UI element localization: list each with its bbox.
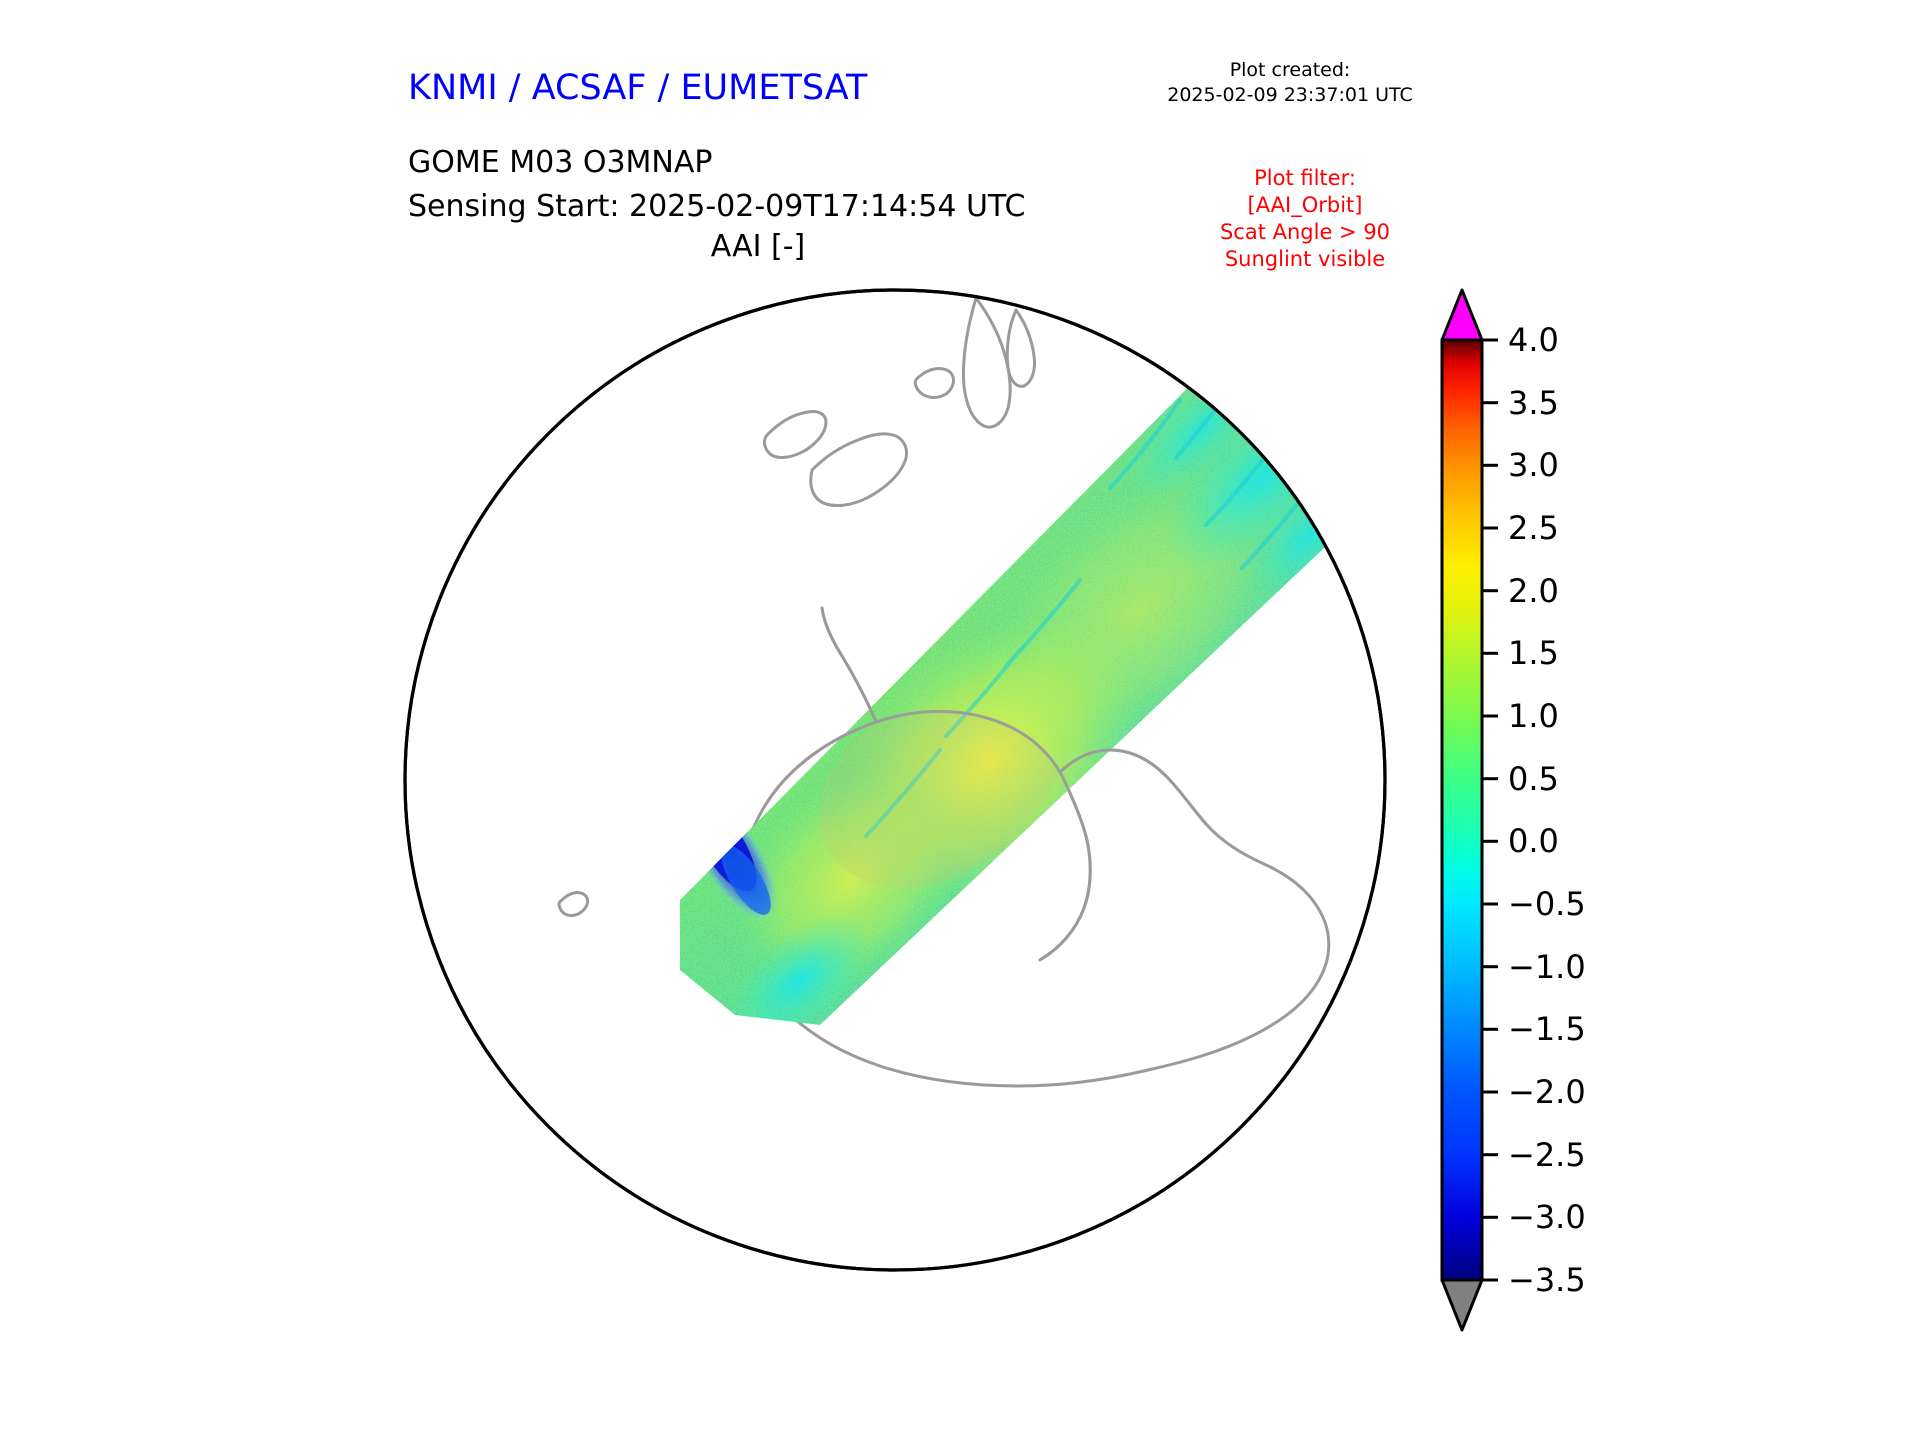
variable-title: AAI [-] [408,229,1108,264]
sensing-start: Sensing Start: 2025-02-09T17:14:54 UTC [408,185,1025,229]
plot-created-block: Plot created: 2025-02-09 23:37:01 UTC [1140,58,1440,108]
colorbar-tick-label-13: −2.5 [1508,1139,1586,1171]
colorbar-tick-label-0: 4.0 [1508,324,1559,356]
agency-title: KNMI / ACSAF / EUMETSAT [408,68,867,108]
colorbar-tick-label-14: −3.0 [1508,1201,1586,1233]
colorbar-gradient [1442,340,1482,1280]
colorbar-tick-label-7: 0.5 [1508,763,1559,795]
map-plot-area [380,280,1410,1340]
colorbar-tick-label-8: 0.0 [1508,825,1559,857]
colorbar-tick-labels: 4.0 3.5 3.0 2.5 2.0 1.5 1.0 0.5 0.0 −0.5… [1508,280,1628,1340]
colorbar-tick-label-1: 3.5 [1508,387,1559,419]
colorbar-under-arrow [1442,1280,1482,1330]
colorbar-tick-label-11: −1.5 [1508,1013,1586,1045]
colorbar-tick-label-15: −3.5 [1508,1264,1586,1296]
product-name: GOME M03 O3MNAP [408,141,1025,185]
colorbar-tick-label-5: 1.5 [1508,637,1559,669]
colorbar-ticks [1482,340,1498,1280]
africa-cape-coastline [1300,1022,1410,1108]
polar-stereographic-map [380,280,1410,1340]
plot-created-label: Plot created: [1140,58,1440,83]
colorbar-tick-label-3: 2.5 [1508,512,1559,544]
plot-filter-line-0: [AAI_Orbit] [1160,192,1450,219]
colorbar [1440,280,1500,1340]
plot-filter-label: Plot filter: [1160,165,1450,192]
plot-filter-block: Plot filter: [AAI_Orbit] Scat Angle > 90… [1160,165,1450,273]
colorbar-svg [1440,280,1500,1340]
plot-filter-line-2: Sunglint visible [1160,246,1450,273]
product-title-block: GOME M03 O3MNAP Sensing Start: 2025-02-0… [408,141,1025,229]
colorbar-tick-label-9: −0.5 [1508,888,1586,920]
plot-filter-line-1: Scat Angle > 90 [1160,219,1450,246]
colorbar-tick-label-12: −2.0 [1508,1076,1586,1108]
colorbar-tick-label-6: 1.0 [1508,700,1559,732]
colorbar-tick-label-10: −1.0 [1508,951,1586,983]
colorbar-over-arrow [1442,290,1482,340]
plot-created-value: 2025-02-09 23:37:01 UTC [1140,83,1440,108]
colorbar-tick-label-2: 3.0 [1508,449,1559,481]
colorbar-tick-label-4: 2.0 [1508,575,1559,607]
